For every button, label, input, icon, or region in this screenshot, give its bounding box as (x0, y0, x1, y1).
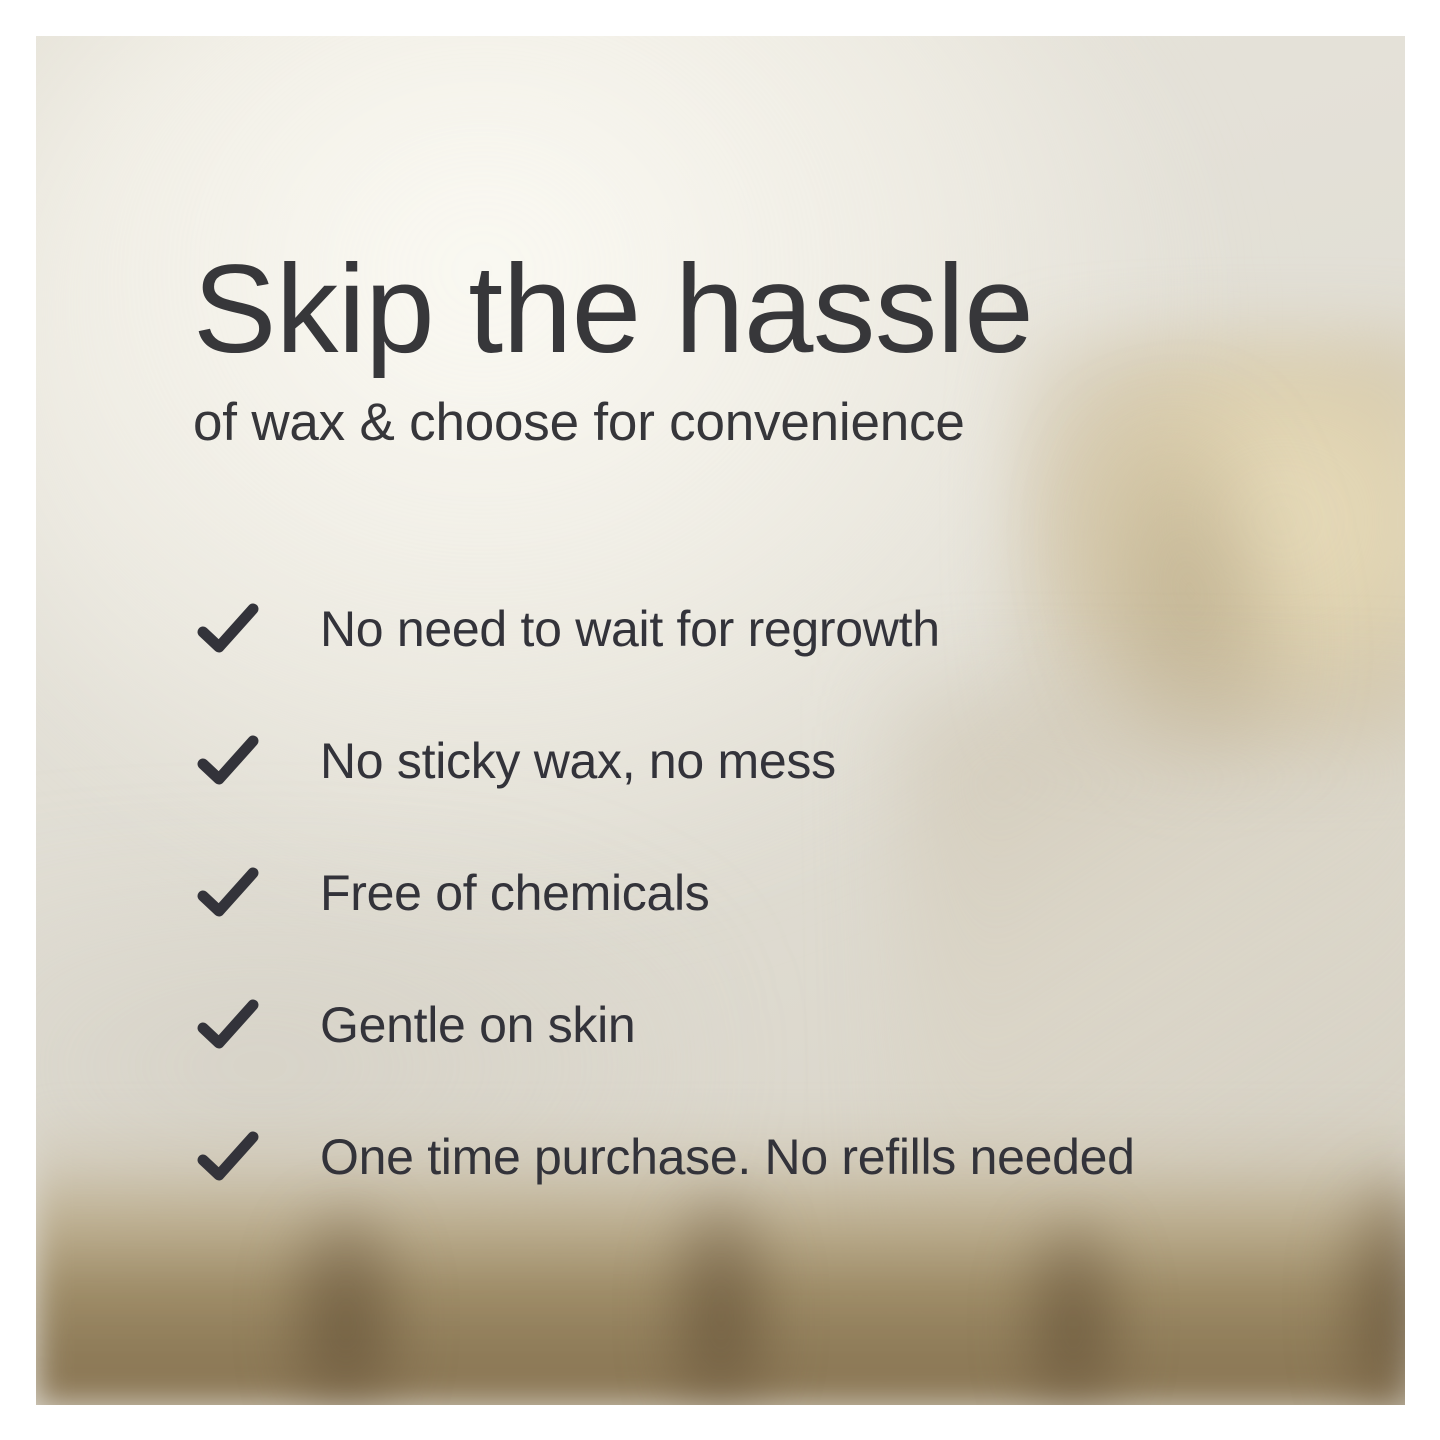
subheadline: of wax & choose for convenience (193, 393, 965, 454)
check-icon (193, 858, 263, 928)
benefit-item: Free of chemicals (193, 827, 1393, 959)
benefit-item: One time purchase. No refills needed (193, 1091, 1393, 1223)
benefits-list: No need to wait for regrowth No sticky w… (193, 563, 1393, 1223)
check-icon (193, 990, 263, 1060)
benefit-label: No sticky wax, no mess (320, 732, 836, 790)
promo-image: Skip the hassle of wax & choose for conv… (36, 36, 1405, 1405)
text-overlay: Skip the hassle of wax & choose for conv… (36, 36, 1405, 1405)
check-icon (193, 594, 263, 664)
benefit-item: No sticky wax, no mess (193, 695, 1393, 827)
benefit-item: Gentle on skin (193, 959, 1393, 1091)
benefit-label: Free of chemicals (320, 864, 709, 922)
check-icon (193, 726, 263, 796)
benefit-item: No need to wait for regrowth (193, 563, 1393, 695)
benefit-label: One time purchase. No refills needed (320, 1128, 1135, 1186)
benefit-label: No need to wait for regrowth (320, 600, 940, 658)
benefit-label: Gentle on skin (320, 996, 635, 1054)
headline: Skip the hassle (193, 246, 1033, 374)
image-frame: Skip the hassle of wax & choose for conv… (0, 0, 1440, 1440)
check-icon (193, 1122, 263, 1192)
